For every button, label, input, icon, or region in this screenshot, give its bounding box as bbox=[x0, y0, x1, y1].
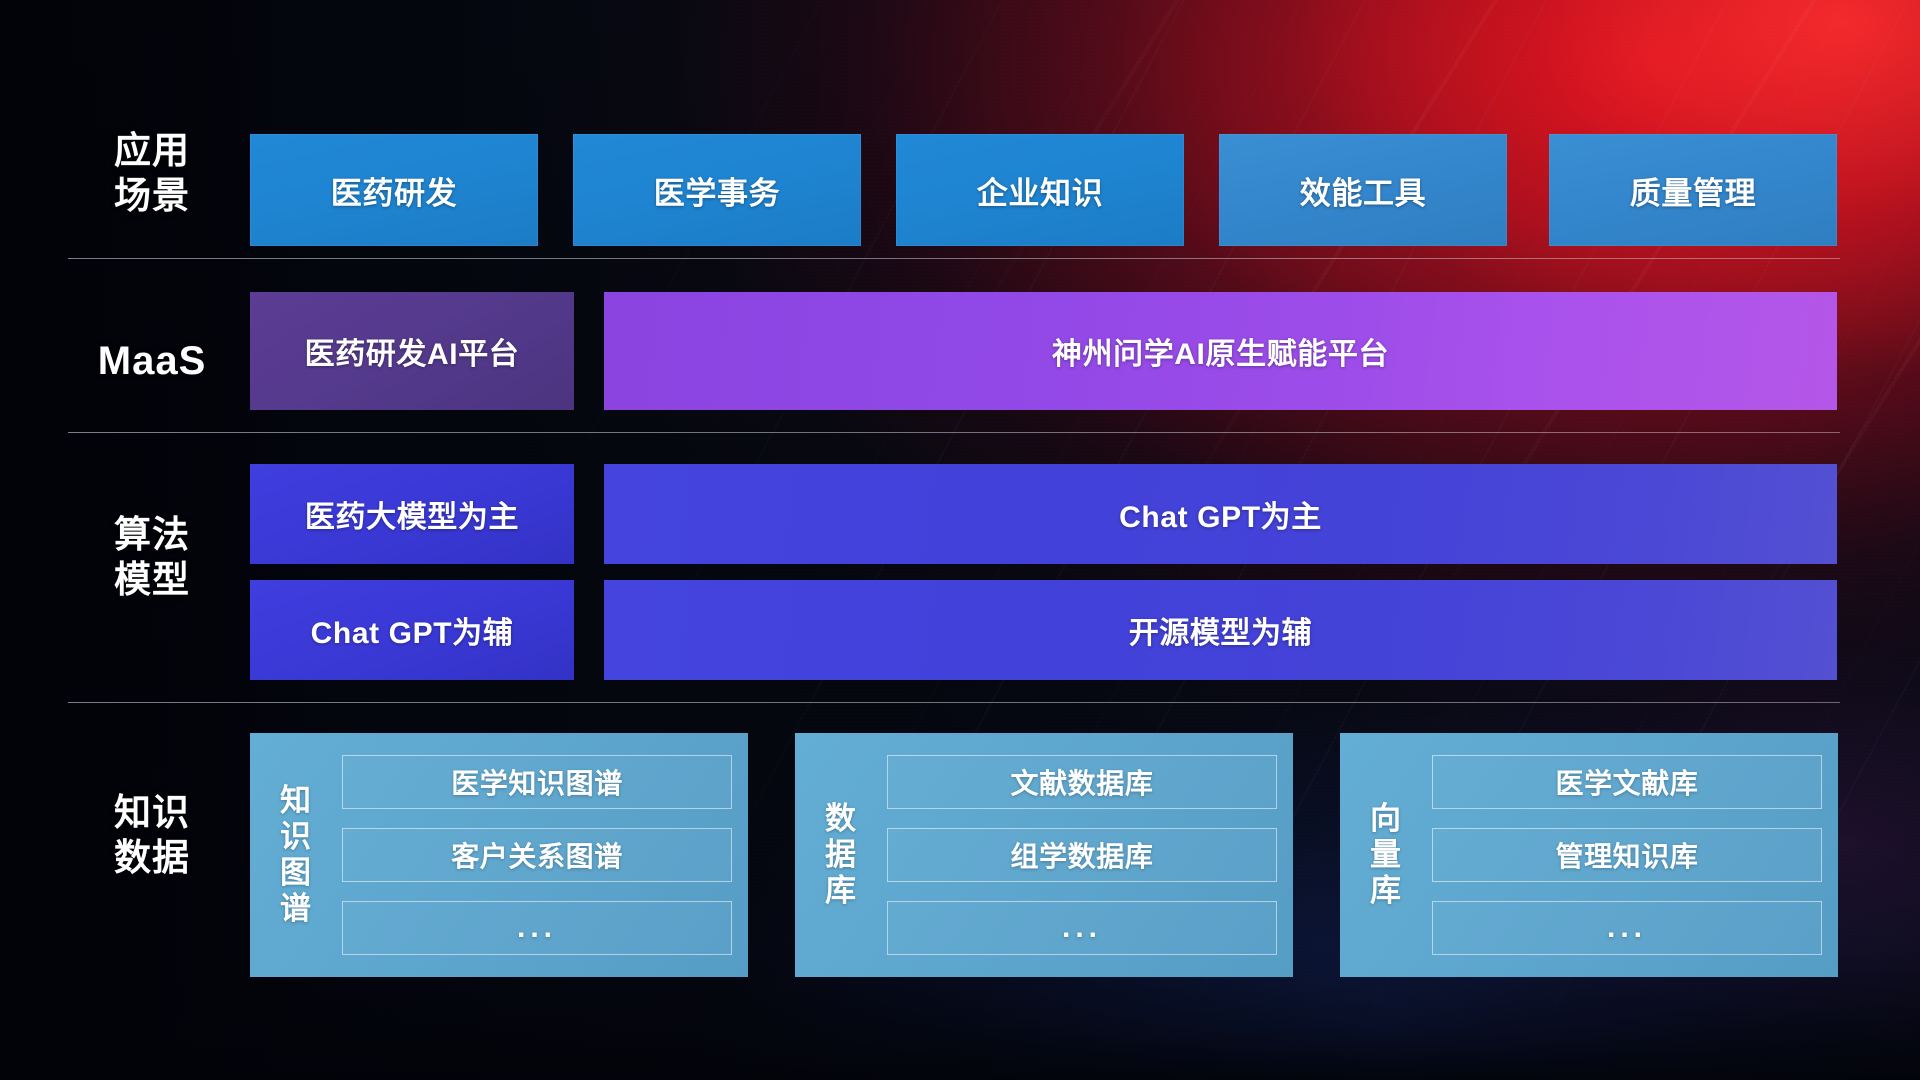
vlabel-char: 图 bbox=[280, 855, 312, 891]
algo-box-label: Chat GPT为辅 bbox=[311, 608, 514, 652]
knowledge-panel-items: 医学知识图谱 客户关系图谱 ... bbox=[342, 747, 732, 963]
app-box-enterprise-knowledge[interactable]: 企业知识 bbox=[896, 134, 1184, 246]
architecture-diagram: 应用 场景 医药研发 医学事务 企业知识 效能工具 质量管理 MaaS bbox=[0, 0, 1920, 1080]
knowledge-panel-items: 文献数据库 组学数据库 ... bbox=[887, 747, 1277, 963]
knowledge-panel-vector-store[interactable]: 向 量 库 医学文献库 管理知识库 ... bbox=[1340, 733, 1838, 977]
row-label-line: MaaS bbox=[68, 337, 236, 386]
vlabel-char: 库 bbox=[825, 873, 857, 909]
maas-box-shenzhou-wenxue-platform[interactable]: 神州问学AI原生赋能平台 bbox=[604, 292, 1837, 410]
knowledge-panel-vertical-label: 向 量 库 bbox=[1340, 801, 1432, 909]
maas-box-label: 医药研发AI平台 bbox=[305, 329, 520, 373]
app-box-efficiency-tools[interactable]: 效能工具 bbox=[1219, 134, 1507, 246]
vlabel-char: 量 bbox=[1370, 837, 1402, 873]
knowledge-panel-knowledge-graph[interactable]: 知 识 图 谱 医学知识图谱 客户关系图谱 ... bbox=[250, 733, 748, 977]
knowledge-item[interactable]: 文献数据库 bbox=[887, 755, 1277, 809]
vlabel-char: 据 bbox=[825, 837, 857, 873]
row-label-line: 算法 bbox=[68, 512, 236, 557]
maas-box-drug-rnd-ai-platform[interactable]: 医药研发AI平台 bbox=[250, 292, 574, 410]
knowledge-item[interactable]: 医学文献库 bbox=[1432, 755, 1822, 809]
app-box-label: 效能工具 bbox=[1300, 168, 1426, 213]
knowledge-item-more[interactable]: ... bbox=[342, 901, 732, 955]
maas-box-label: 神州问学AI原生赋能平台 bbox=[1052, 329, 1389, 373]
app-box-label: 医药研发 bbox=[331, 168, 457, 213]
row-label-line: 知识 bbox=[68, 790, 236, 835]
vlabel-char: 谱 bbox=[280, 891, 312, 927]
algo-box-label: Chat GPT为主 bbox=[1119, 492, 1322, 536]
algo-box-label: 开源模型为辅 bbox=[1129, 608, 1313, 652]
row-label-line: 场景 bbox=[68, 173, 236, 218]
slide-canvas: 应用 场景 医药研发 医学事务 企业知识 效能工具 质量管理 MaaS bbox=[0, 0, 1920, 1080]
vlabel-char: 库 bbox=[1370, 873, 1402, 909]
algo-box-open-source-secondary[interactable]: 开源模型为辅 bbox=[604, 580, 1837, 680]
vlabel-char: 数 bbox=[825, 801, 857, 837]
app-box-label: 企业知识 bbox=[977, 168, 1103, 213]
app-box-label: 质量管理 bbox=[1630, 168, 1756, 213]
app-box-medical-affairs[interactable]: 医学事务 bbox=[573, 134, 861, 246]
divider-after-algorithm bbox=[68, 702, 1840, 703]
vlabel-char: 向 bbox=[1370, 801, 1402, 837]
algo-box-chatgpt-secondary[interactable]: Chat GPT为辅 bbox=[250, 580, 574, 680]
knowledge-item[interactable]: 组学数据库 bbox=[887, 828, 1277, 882]
algo-box-label: 医药大模型为主 bbox=[305, 492, 519, 536]
algo-box-pharma-large-model-primary[interactable]: 医药大模型为主 bbox=[250, 464, 574, 564]
row-label-application-scenarios: 应用 场景 bbox=[68, 128, 236, 218]
knowledge-panel-vertical-label: 数 据 库 bbox=[795, 801, 887, 909]
vlabel-char: 识 bbox=[280, 819, 312, 855]
knowledge-item[interactable]: 客户关系图谱 bbox=[342, 828, 732, 882]
row-label-line: 应用 bbox=[68, 128, 236, 173]
knowledge-panel-items: 医学文献库 管理知识库 ... bbox=[1432, 747, 1822, 963]
row-label-line: 模型 bbox=[68, 557, 236, 602]
knowledge-panel-vertical-label: 知 识 图 谱 bbox=[250, 783, 342, 927]
divider-after-maas bbox=[68, 432, 1840, 433]
row-label-algorithm-models: 算法 模型 bbox=[68, 512, 236, 602]
knowledge-item[interactable]: 管理知识库 bbox=[1432, 828, 1822, 882]
knowledge-item-more[interactable]: ... bbox=[887, 901, 1277, 955]
vlabel-char: 知 bbox=[280, 783, 312, 819]
algo-box-chatgpt-primary[interactable]: Chat GPT为主 bbox=[604, 464, 1837, 564]
knowledge-item-more[interactable]: ... bbox=[1432, 901, 1822, 955]
row-label-line: 数据 bbox=[68, 835, 236, 880]
app-box-drug-rnd[interactable]: 医药研发 bbox=[250, 134, 538, 246]
row-label-knowledge-data: 知识 数据 bbox=[68, 790, 236, 880]
app-box-label: 医学事务 bbox=[654, 168, 780, 213]
app-box-quality-management[interactable]: 质量管理 bbox=[1549, 134, 1837, 246]
knowledge-item[interactable]: 医学知识图谱 bbox=[342, 755, 732, 809]
knowledge-panel-database[interactable]: 数 据 库 文献数据库 组学数据库 ... bbox=[795, 733, 1293, 977]
row-label-maas: MaaS bbox=[68, 337, 236, 386]
divider-after-application bbox=[68, 258, 1840, 259]
